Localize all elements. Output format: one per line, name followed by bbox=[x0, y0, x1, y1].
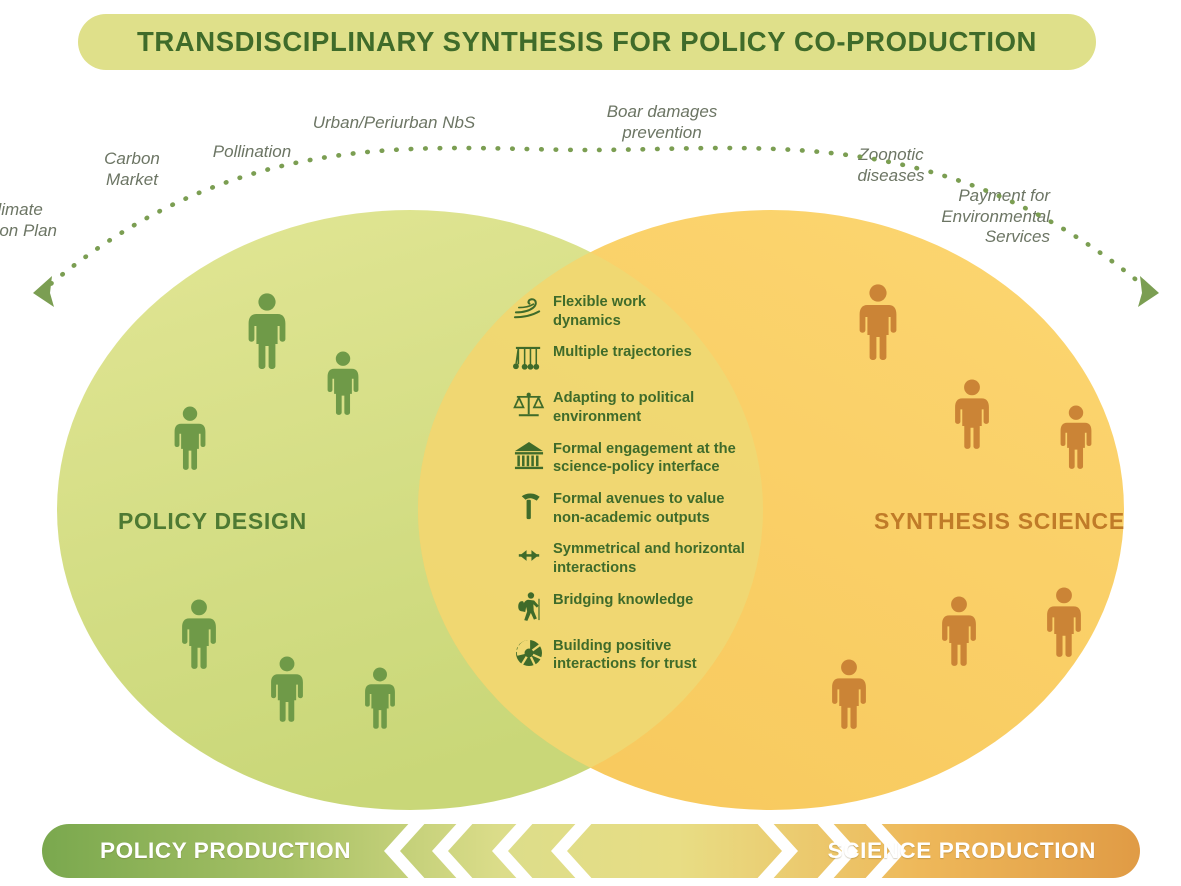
shared-attribute-label: Formal avenues to value non-academic out… bbox=[553, 489, 724, 527]
synthesis-science-label: SYNTHESIS SCIENCE bbox=[874, 508, 1125, 535]
production-banner: POLICY PRODUCTION SCIENCE PRODUCTION bbox=[42, 824, 1140, 878]
shared-attribute-label: Multiple trajectories bbox=[553, 342, 692, 362]
shared-attribute-item: Bridging knowledge bbox=[505, 590, 805, 624]
wind-flow-icon bbox=[505, 292, 553, 326]
shared-attributes-list: Flexible work dynamicsMultiple trajector… bbox=[505, 292, 805, 686]
institution-building-icon bbox=[505, 439, 553, 473]
shared-attribute-item: Flexible work dynamics bbox=[505, 292, 805, 330]
shared-attribute-label: Bridging knowledge bbox=[553, 590, 693, 610]
policy-design-label: POLICY DESIGN bbox=[118, 508, 307, 535]
shared-attribute-label: Building positive interactions for trust bbox=[553, 636, 697, 674]
shared-attribute-item: Multiple trajectories bbox=[505, 342, 805, 376]
balance-scales-icon bbox=[505, 388, 553, 422]
arc-arrowhead-left bbox=[33, 276, 54, 307]
shared-attribute-item: Formal engagement at the science-policy … bbox=[505, 439, 805, 477]
double-arrow-horizontal-icon bbox=[505, 539, 553, 573]
shared-attribute-label: Flexible work dynamics bbox=[553, 292, 646, 330]
policy-production-label: POLICY PRODUCTION bbox=[100, 838, 351, 864]
shared-attribute-item: Building positive interactions for trust bbox=[505, 636, 805, 674]
shared-attribute-item: Symmetrical and horizontal interactions bbox=[505, 539, 805, 577]
camera-aperture-icon bbox=[505, 636, 553, 670]
shared-attribute-item: Adapting to political environment bbox=[505, 388, 805, 426]
science-production-label: SCIENCE PRODUCTION bbox=[828, 838, 1096, 864]
newtons-cradle-icon bbox=[505, 342, 553, 376]
shared-attribute-item: Formal avenues to value non-academic out… bbox=[505, 489, 805, 527]
arc-arrowhead-right bbox=[1138, 276, 1159, 307]
hammer-icon bbox=[505, 489, 553, 523]
shared-attribute-label: Formal engagement at the science-policy … bbox=[553, 439, 736, 477]
hiker-backpack-icon bbox=[505, 590, 553, 624]
shared-attribute-label: Adapting to political environment bbox=[553, 388, 694, 426]
shared-attribute-label: Symmetrical and horizontal interactions bbox=[553, 539, 745, 577]
